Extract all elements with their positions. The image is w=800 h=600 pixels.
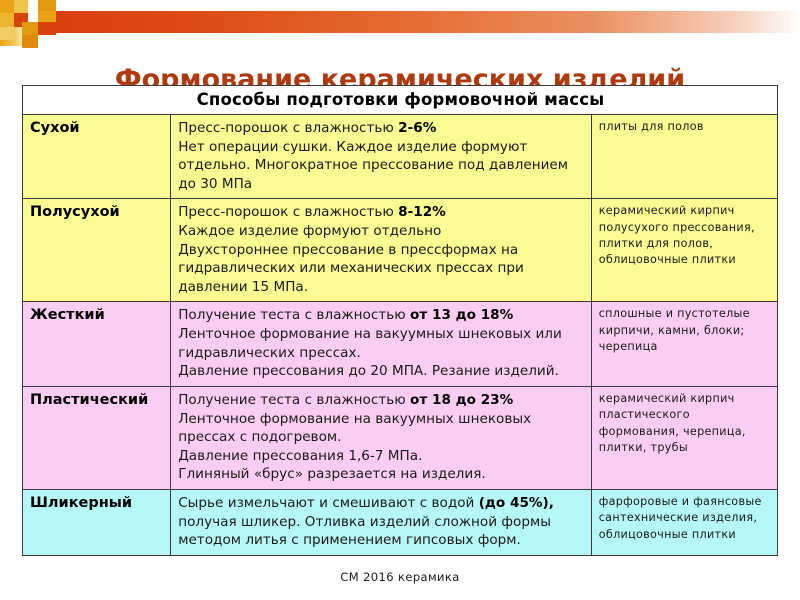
product-line: сантехнические изделия, bbox=[599, 510, 771, 526]
product-line: керамический кирпич bbox=[599, 203, 771, 219]
description-text: методом литья с применением гипсовых фор… bbox=[178, 532, 521, 548]
description-text: Давление прессования до 20 МПА. Резание … bbox=[178, 363, 559, 379]
description-line: прессах с подогревом. bbox=[178, 428, 585, 447]
description-text: Сырье измельчают и смешивают с водой bbox=[178, 495, 479, 511]
product-line: черепица bbox=[599, 339, 771, 355]
description-line: получая шликер. Отливка изделий сложной … bbox=[178, 513, 585, 532]
method-description-cell: Сырье измельчают и смешивают с водой (до… bbox=[171, 489, 592, 555]
method-description-cell: Пресс-порошок с влажностью 8-12%Каждое и… bbox=[171, 199, 592, 302]
description-line: Пресс-порошок с влажностью 2-6% bbox=[178, 119, 585, 138]
description-text: Получение теста с влажностью bbox=[178, 307, 410, 323]
table-row: ПолусухойПресс-порошок с влажностью 8-12… bbox=[23, 199, 778, 302]
description-line: Ленточное формование на вакуумных шнеков… bbox=[178, 325, 585, 344]
description-text: Получение теста с влажностью bbox=[178, 392, 410, 408]
product-line: формования, черепица, bbox=[599, 424, 771, 440]
method-description-cell: Получение теста с влажностью от 13 до 18… bbox=[171, 302, 592, 386]
method-name-cell: Пластический bbox=[23, 386, 171, 489]
product-line: керамический кирпич bbox=[599, 391, 771, 407]
description-text: до 30 МПа bbox=[178, 176, 252, 192]
deco-square bbox=[14, 0, 28, 13]
description-line: Давление прессования 1,6-7 МПа. bbox=[178, 447, 585, 466]
description-highlight: 2-6% bbox=[398, 120, 436, 136]
method-description-cell: Пресс-порошок с влажностью 2-6%Нет опера… bbox=[171, 115, 592, 199]
description-line: методом литья с применением гипсовых фор… bbox=[178, 531, 585, 550]
description-text: Каждое изделие формуют отдельно bbox=[178, 223, 441, 239]
method-products-cell: керамический кирпичполусухого прессовани… bbox=[591, 199, 777, 302]
product-line: облицовочные плитки bbox=[599, 252, 771, 268]
method-name-cell: Жесткий bbox=[23, 302, 171, 386]
description-text: отдельно. Многократное прессование под д… bbox=[178, 157, 568, 173]
description-line: Нет операции сушки. Каждое изделие форму… bbox=[178, 138, 585, 157]
deco-square bbox=[22, 22, 38, 35]
description-line: Сырье измельчают и смешивают с водой (до… bbox=[178, 494, 585, 513]
description-text: гидравлических прессах. bbox=[178, 345, 361, 361]
table-row: ЖесткийПолучение теста с влажностью от 1… bbox=[23, 302, 778, 386]
description-line: Пресс-порошок с влажностью 8-12% bbox=[178, 203, 585, 222]
method-products-cell: фарфоровые и фаянсовыесантехнические изд… bbox=[591, 489, 777, 555]
description-line: Каждое изделие формуют отдельно bbox=[178, 222, 585, 241]
description-line: отдельно. Многократное прессование под д… bbox=[178, 156, 585, 175]
method-name-cell: Сухой bbox=[23, 115, 171, 199]
decorative-header-band bbox=[0, 0, 800, 46]
description-text: гидравлических или механических прессах … bbox=[178, 260, 524, 276]
description-text: получая шликер. Отливка изделий сложной … bbox=[178, 514, 551, 530]
description-line: Получение теста с влажностью от 18 до 23… bbox=[178, 391, 585, 410]
product-line: плитки, трубы bbox=[599, 440, 771, 456]
description-line: Получение теста с влажностью от 13 до 18… bbox=[178, 306, 585, 325]
description-line: Давление прессования до 20 МПА. Резание … bbox=[178, 362, 585, 381]
method-products-cell: керамический кирпичпластическогоформован… bbox=[591, 386, 777, 489]
table-row: ШликерныйСырье измельчают и смешивают с … bbox=[23, 489, 778, 555]
table-row: СухойПресс-порошок с влажностью 2-6%Нет … bbox=[23, 115, 778, 199]
table-header-row: Способы подготовки формовочной массы bbox=[23, 86, 778, 115]
method-name-cell: Полусухой bbox=[23, 199, 171, 302]
slide-footer: СМ 2016 керамика bbox=[0, 570, 800, 584]
deco-square bbox=[22, 35, 38, 48]
forming-methods-table: Способы подготовки формовочной массы Сух… bbox=[22, 85, 778, 556]
description-highlight: 8-12% bbox=[398, 204, 446, 220]
table-head: Способы подготовки формовочной массы bbox=[23, 86, 778, 115]
product-line: пластического bbox=[599, 407, 771, 423]
table-header-title: Способы подготовки формовочной массы bbox=[23, 86, 778, 115]
description-text: Ленточное формование на вакуумных шнеков… bbox=[178, 411, 531, 427]
method-products-cell: плиты для полов bbox=[591, 115, 777, 199]
description-highlight: от 18 до 23% bbox=[410, 392, 513, 408]
deco-square bbox=[0, 0, 14, 13]
description-text: Двухстороннее прессование в прессформах … bbox=[178, 242, 518, 258]
description-line: Ленточное формование на вакуумных шнеков… bbox=[178, 410, 585, 429]
deco-square bbox=[0, 27, 14, 40]
method-products-cell: сплошные и пустотелыекирпичи, камни, бло… bbox=[591, 302, 777, 386]
product-line: кирпичи, камни, блоки; bbox=[599, 323, 771, 339]
method-name-cell: Шликерный bbox=[23, 489, 171, 555]
product-line: облицовочные плитки bbox=[599, 527, 771, 543]
header-gradient-bar bbox=[56, 11, 800, 33]
description-line: Глиняный «брус» разрезается на изделия. bbox=[178, 465, 585, 484]
table-body: СухойПресс-порошок с влажностью 2-6%Нет … bbox=[23, 115, 778, 556]
description-line: гидравлических или механических прессах … bbox=[178, 259, 585, 278]
description-highlight: (до 45%), bbox=[479, 495, 554, 511]
method-description-cell: Получение теста с влажностью от 18 до 23… bbox=[171, 386, 592, 489]
description-line: до 30 МПа bbox=[178, 175, 585, 194]
description-line: давлении 15 МПа. bbox=[178, 278, 585, 297]
product-line: плиты для полов bbox=[599, 119, 771, 135]
description-text: Давление прессования 1,6-7 МПа. bbox=[178, 448, 422, 464]
description-text: Пресс-порошок с влажностью bbox=[178, 204, 398, 220]
table-row: ПластическийПолучение теста с влажностью… bbox=[23, 386, 778, 489]
description-text: прессах с подогревом. bbox=[178, 429, 341, 445]
description-text: Ленточное формование на вакуумных шнеков… bbox=[178, 326, 562, 342]
description-line: Двухстороннее прессование в прессформах … bbox=[178, 241, 585, 260]
description-text: Нет операции сушки. Каждое изделие форму… bbox=[178, 139, 527, 155]
description-line: гидравлических прессах. bbox=[178, 344, 585, 363]
description-text: Пресс-порошок с влажностью bbox=[178, 120, 398, 136]
description-highlight: от 13 до 18% bbox=[410, 307, 513, 323]
product-line: полусухого прессования, bbox=[599, 220, 771, 236]
product-line: сплошные и пустотелые bbox=[599, 306, 771, 322]
product-line: фарфоровые и фаянсовые bbox=[599, 494, 771, 510]
deco-square bbox=[38, 22, 56, 35]
product-line: плитки для полов, bbox=[599, 236, 771, 252]
description-text: Глиняный «брус» разрезается на изделия. bbox=[178, 466, 486, 482]
deco-square bbox=[0, 13, 14, 27]
description-text: давлении 15 МПа. bbox=[178, 279, 308, 295]
deco-square bbox=[38, 11, 56, 22]
